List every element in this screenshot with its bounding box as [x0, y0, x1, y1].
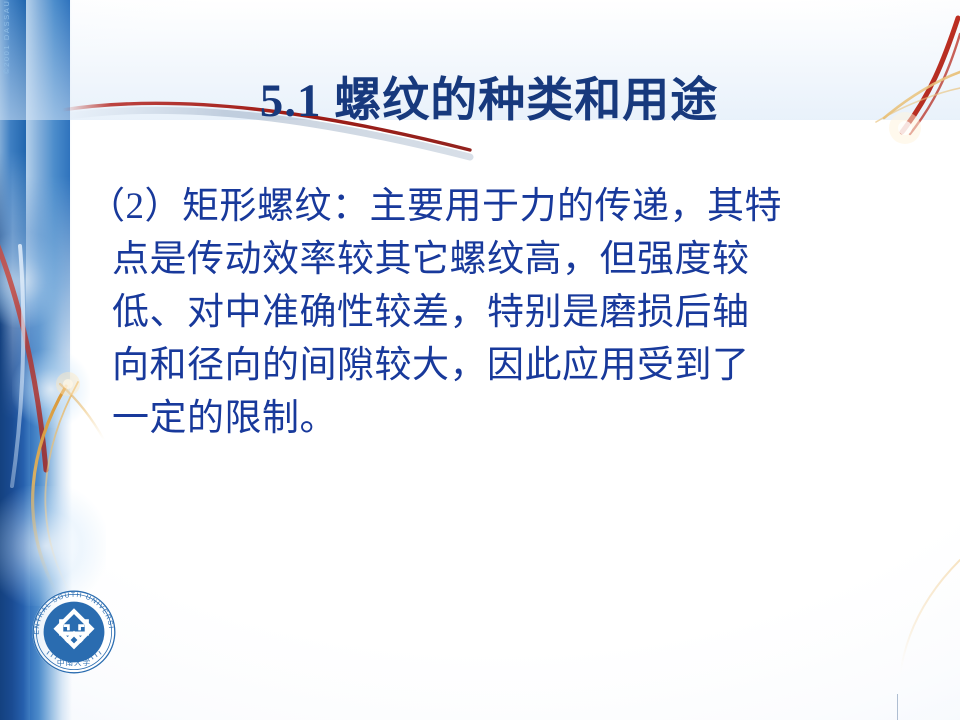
body-line: 低、对中准确性较差，特别是磨损后轴 — [88, 286, 888, 339]
body-line: （2）矩形螺纹：主要用于力的传递，其特 — [88, 180, 888, 233]
body-line: 点是传动效率较其它螺纹高，但强度较 — [88, 233, 888, 286]
body-line: 向和径向的间隙较大，因此应用受到了 — [88, 339, 888, 392]
university-logo: CENTRAL SOUTH UNIVERSITY — [26, 584, 122, 680]
left-band-glow-mid — [12, 350, 90, 428]
bottom-right-tick — [897, 694, 898, 720]
left-band-glow-top — [0, 232, 70, 328]
body-line: 一定的限制。 — [88, 392, 888, 445]
body-paragraph: （2）矩形螺纹：主要用于力的传递，其特 点是传动效率较其它螺纹高，但强度较 低、… — [88, 180, 888, 445]
copyright-text: ©2001 DASSAULT SYSTEMES-R2 — [2, 0, 11, 74]
slide-canvas: ©2001 DASSAULT SYSTEMES-R2 5.1 螺纹的种类和用途 … — [0, 0, 960, 720]
logo-chinese-name: 中南大学 — [57, 657, 91, 667]
page-title: 5.1 螺纹的种类和用途 — [0, 72, 960, 130]
csu-emblem-icon: CENTRAL SOUTH UNIVERSITY — [26, 584, 122, 680]
